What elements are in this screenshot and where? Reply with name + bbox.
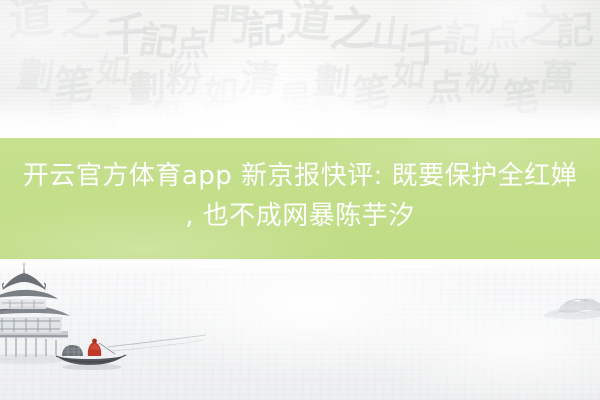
mist-overlay bbox=[0, 259, 600, 400]
banner-image: 道之千記点門記道之山千記点之記劃笔如劃粉如清是劃笔如点粉笔萬是清如之是 开云官方… bbox=[0, 0, 600, 400]
paper-bottom-fade bbox=[0, 92, 600, 138]
page-title: 开云官方体育app 新京报快评: 既要保护全红婵 , 也不成网暴陈芋汐 bbox=[0, 156, 600, 236]
calligraphy-texture-band: 道之千記点門記道之山千記点之記劃笔如劃粉如清是劃笔如点粉笔萬是清如之是 bbox=[0, 0, 600, 138]
ink-wash-landscape bbox=[0, 259, 600, 400]
headline-line-2: , 也不成网暴陈芋汐 bbox=[8, 196, 592, 236]
landscape-top-fade bbox=[0, 259, 600, 275]
headline-band: 开云官方体育app 新京报快评: 既要保护全红婵 , 也不成网暴陈芋汐 bbox=[0, 138, 600, 259]
headline-line-1: 开云官方体育app 新京报快评: 既要保护全红婵 bbox=[8, 156, 592, 196]
